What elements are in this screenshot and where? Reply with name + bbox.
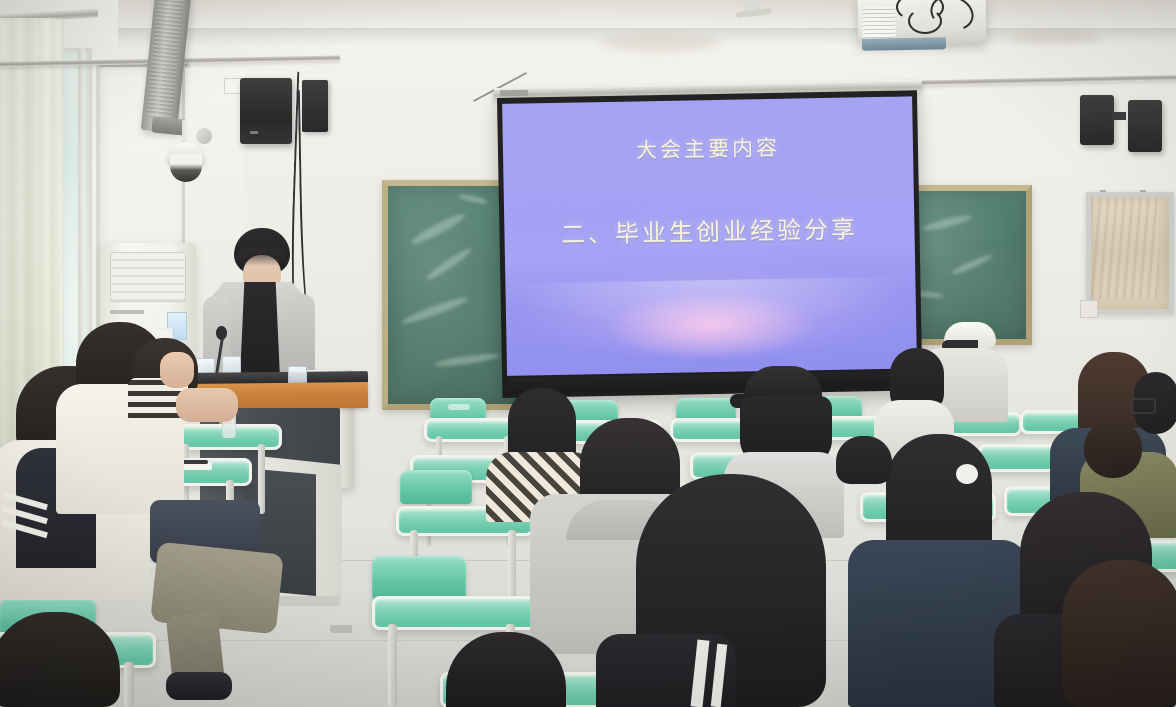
classroom-presentation-screenshot: 大会主要内容 二、毕业生创业经验分享 xyxy=(0,0,1176,707)
student-chair xyxy=(400,470,472,504)
wall-speaker-left-large xyxy=(240,78,292,144)
camera-sensor-pod xyxy=(196,128,212,144)
projector-cable xyxy=(908,8,942,34)
student-shoe xyxy=(166,672,232,700)
wall-speaker-right-b xyxy=(1128,100,1162,152)
projection-screen: 大会主要内容 二、毕业生创业经验分享 xyxy=(497,90,922,398)
slide-agenda-item: 二、毕业生创业经验分享 xyxy=(504,208,915,251)
light-switch[interactable] xyxy=(1080,300,1098,318)
projector-vent xyxy=(862,6,897,43)
student-hand xyxy=(160,352,194,388)
notice-board-cork xyxy=(1091,197,1159,299)
wall-stain xyxy=(600,34,720,52)
student-head xyxy=(836,436,892,484)
student-head xyxy=(1084,420,1142,478)
screen-housing-cap xyxy=(500,90,528,97)
air-conditioner-brand-mark xyxy=(110,310,144,314)
wall-stain xyxy=(1010,30,1100,44)
floor-outlet xyxy=(330,625,352,633)
air-conditioner-vent xyxy=(110,252,186,302)
desk-leg xyxy=(124,662,134,707)
slide-glow xyxy=(502,275,917,355)
student-chair xyxy=(372,556,466,600)
speaker-bracket xyxy=(1112,112,1126,120)
glasses-icon xyxy=(1130,398,1156,414)
speaker-led xyxy=(250,131,258,134)
projector-lens xyxy=(862,37,946,50)
wall-speaker-right-a xyxy=(1080,95,1114,145)
student-head xyxy=(1062,560,1176,707)
pen xyxy=(182,460,208,464)
slide-surface: 大会主要内容 二、毕业生创业经验分享 xyxy=(502,96,917,375)
desk-leg xyxy=(258,444,265,514)
desk-leg xyxy=(388,624,397,707)
microphone-head-icon xyxy=(216,326,227,340)
presenter-fringe xyxy=(236,248,288,266)
student-arm xyxy=(176,388,238,422)
hair-clip xyxy=(956,464,978,484)
